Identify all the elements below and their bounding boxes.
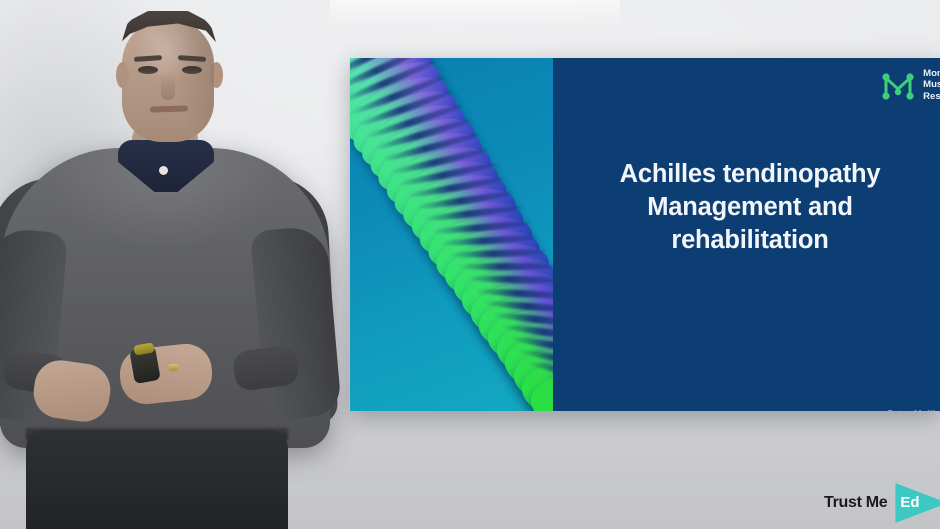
- presenter: [0, 0, 362, 529]
- slide-title: Achilles tendinopathy Management and reh…: [565, 158, 935, 257]
- monash-logo-line-3: Research Uni: [923, 91, 940, 102]
- slide-title-line-2: Management and: [565, 191, 935, 224]
- monash-logo-line-1: Monash: [923, 68, 940, 79]
- trustme-wordmark: Trust Me: [824, 494, 887, 512]
- credit-author: Peter Malliar: [794, 408, 940, 411]
- wedding-ring: [168, 364, 179, 371]
- video-frame: Achilles tendinopathy Management and reh…: [0, 0, 940, 529]
- slide-credit: Peter Malliar 30th June 20: [794, 408, 940, 411]
- monash-logo: Monash Musculoskele Research Uni: [882, 68, 940, 102]
- slide-artwork: [350, 58, 553, 411]
- presenter-trousers: [26, 430, 288, 529]
- monash-m-node-icon: [882, 70, 916, 100]
- slide-title-line-3: rehabilitation: [565, 224, 935, 257]
- collar-button: [159, 166, 168, 175]
- slide-title-line-1: Achilles tendinopathy: [565, 158, 935, 191]
- ed-play-badge: Ed: [895, 483, 940, 523]
- presentation-slide: Achilles tendinopathy Management and reh…: [350, 58, 940, 411]
- monash-logo-text: Monash Musculoskele Research Uni: [923, 68, 940, 102]
- face-shading: [122, 18, 214, 142]
- monash-logo-line-2: Musculoskele: [923, 79, 940, 90]
- wall-seam: [330, 0, 620, 26]
- ed-label: Ed: [900, 494, 919, 511]
- trustme-ed-watermark: Trust Me Ed: [824, 483, 940, 523]
